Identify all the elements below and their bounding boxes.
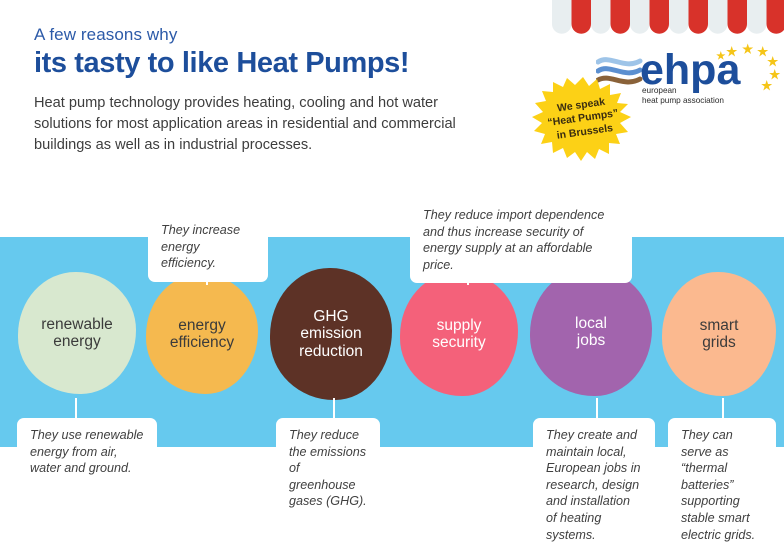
scoop-label-energy-efficiency: energy efficiency xyxy=(166,317,238,352)
scoop-label-renewable-energy: renewable energy xyxy=(37,316,117,351)
infographic-page: A few reasons why its tasty to like Heat… xyxy=(0,0,784,551)
callout-ghg-reduction: They reduce the emissions of greenhouse … xyxy=(276,418,380,520)
scoop-energy-efficiency: energy efficiency xyxy=(146,274,258,394)
scoop-label-line1: local xyxy=(575,315,607,332)
intro-paragraph: Heat pump technology provides heating, c… xyxy=(34,93,494,156)
callout-supply-security: They reduce import dependence and thus i… xyxy=(410,198,632,283)
eyebrow-text: A few reasons why xyxy=(34,26,514,45)
scoop-smart-grids: smart grids xyxy=(662,272,776,396)
ehpa-tagline: european heat pump association xyxy=(642,86,724,107)
scoop-local-jobs: local jobs xyxy=(530,268,652,396)
badge-text: We speak “Heat Pumps” in Brussels xyxy=(526,69,641,169)
ehpa-tagline-line1: european xyxy=(642,86,724,96)
scoop-ghg-emission-reduction: GHG emission reduction xyxy=(270,268,392,400)
scoop-label-ghg-emission-reduction: GHG emission reduction xyxy=(295,308,367,360)
awning-icon xyxy=(552,0,784,38)
scoop-label-line2: energy xyxy=(53,333,100,350)
page-title: its tasty to like Heat Pumps! xyxy=(34,47,514,79)
scoop-label-line1: supply xyxy=(437,317,482,334)
callout-energy-efficiency: They increase energy efficiency. xyxy=(148,213,268,282)
scoop-label-line3: reduction xyxy=(299,343,363,360)
callout-renewable-energy: They use renewable energy from air, wate… xyxy=(17,418,157,487)
stem-bottom-ghg xyxy=(333,398,335,420)
scoop-label-line2: emission xyxy=(300,325,361,342)
scoop-label-smart-grids: smart grids xyxy=(696,317,743,352)
scoop-label-line2: security xyxy=(432,334,485,351)
scoop-label-line1: smart xyxy=(700,317,739,334)
callout-local-jobs: They create and maintain local, European… xyxy=(533,418,655,551)
scoop-label-line2: jobs xyxy=(577,332,605,349)
scoop-renewable-energy: renewable energy xyxy=(18,272,136,394)
scoop-label-line2: grids xyxy=(702,334,736,351)
ehpa-tagline-line2: heat pump association xyxy=(642,96,724,106)
stem-bottom-local-jobs xyxy=(596,398,598,420)
stem-bottom-renewable-energy xyxy=(75,398,77,420)
stem-bottom-smart-grids xyxy=(722,398,724,420)
header-block: A few reasons why its tasty to like Heat… xyxy=(34,26,514,157)
scoop-label-line1: GHG xyxy=(313,308,348,325)
scoop-label-line2: efficiency xyxy=(170,334,234,351)
scoop-supply-security: supply security xyxy=(400,272,518,396)
scoop-label-supply-security: supply security xyxy=(428,317,489,352)
scoop-label-line1: renewable xyxy=(41,316,113,333)
callout-smart-grids: They can serve as “thermal batteries” su… xyxy=(668,418,776,551)
we-speak-badge: We speak “Heat Pumps” in Brussels xyxy=(531,76,635,162)
scoop-label-local-jobs: local jobs xyxy=(571,315,611,350)
awning-decoration xyxy=(552,0,784,38)
scoop-label-line1: energy xyxy=(178,317,225,334)
